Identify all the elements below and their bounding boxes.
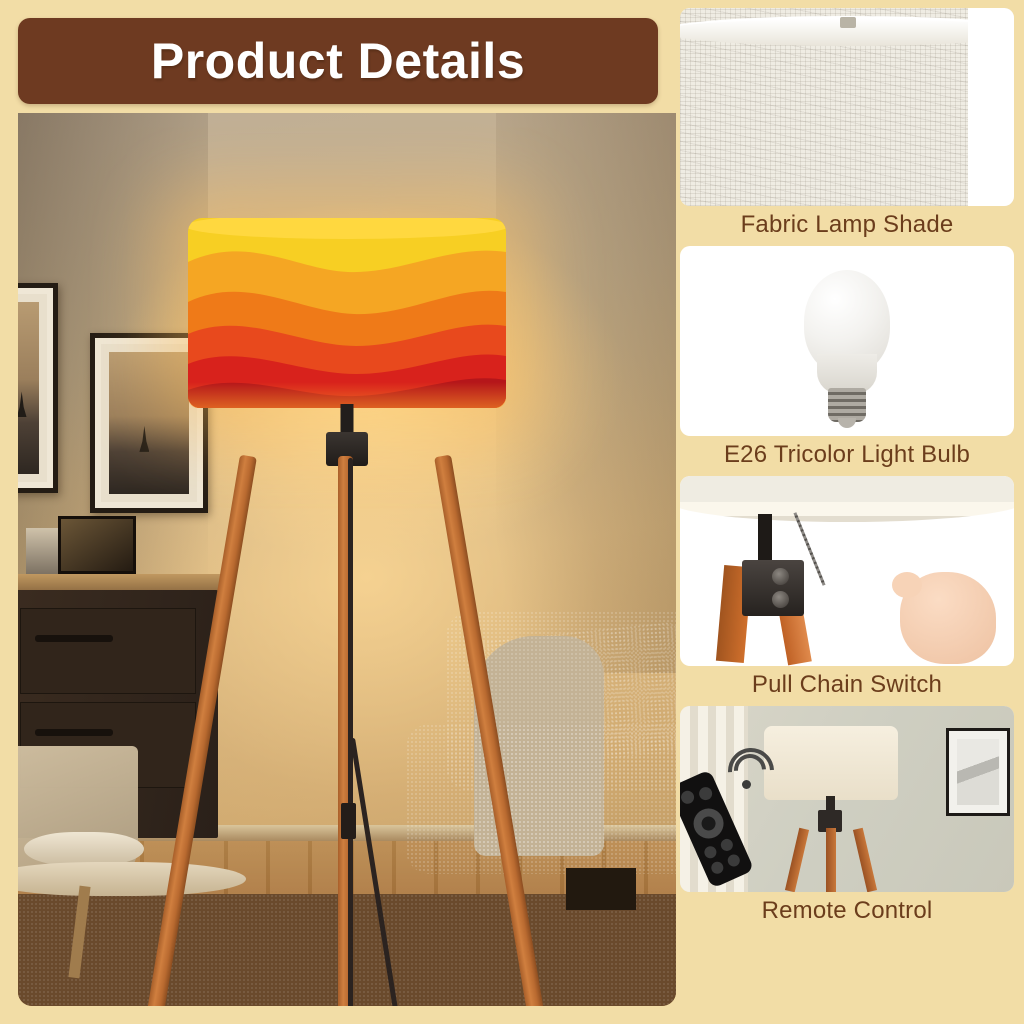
bulb-contact-tip bbox=[838, 418, 856, 428]
detail-card-remote-control[interactable]: Remote Control bbox=[680, 706, 1014, 932]
hero-image-lamp-in-room bbox=[18, 113, 676, 1006]
detail-label-fabric-lamp-shade: Fabric Lamp Shade bbox=[680, 206, 1014, 246]
remote-button bbox=[697, 785, 714, 802]
drawer-handle bbox=[35, 729, 113, 736]
wifi-signal-icon bbox=[742, 780, 751, 789]
thumbnail-side-padding bbox=[968, 8, 1014, 206]
switch-box bbox=[341, 803, 356, 839]
page-title: Product Details bbox=[151, 32, 525, 90]
shade-clip-icon bbox=[840, 17, 856, 28]
detail-card-pull-chain-switch[interactable]: Pull Chain Switch bbox=[680, 476, 1014, 706]
metal-bracket bbox=[742, 560, 804, 616]
shade-bottom-edge bbox=[680, 476, 1014, 522]
product-details-page: Product Details bbox=[0, 0, 1024, 1024]
drawer-handle bbox=[35, 635, 113, 642]
picture-photo bbox=[18, 302, 39, 474]
detail-label-remote-control: Remote Control bbox=[680, 892, 1014, 932]
wall-picture-frame bbox=[946, 728, 1010, 816]
finger bbox=[892, 572, 922, 598]
bulb-screw-base bbox=[828, 388, 866, 422]
decor-book bbox=[26, 528, 58, 574]
pull-chain-thumbnail bbox=[680, 476, 1014, 666]
light-bulb-thumbnail bbox=[680, 246, 1014, 436]
remote-control-thumbnail bbox=[680, 706, 1014, 892]
lamp-shade-waves-graphic bbox=[188, 218, 506, 408]
tripod-leg bbox=[826, 828, 836, 892]
dresser-drawer bbox=[20, 608, 196, 694]
detail-card-fabric-lamp-shade[interactable]: Fabric Lamp Shade bbox=[680, 8, 1014, 246]
wall-picture-frame-left bbox=[18, 283, 58, 493]
hero-column: Product Details bbox=[0, 0, 676, 1024]
screw-icon bbox=[772, 568, 789, 585]
decor-framed-photo bbox=[58, 516, 136, 574]
wavy-lamp-shade bbox=[188, 218, 506, 408]
sofa-foot bbox=[566, 868, 636, 910]
remote-button bbox=[726, 853, 742, 869]
lamp-shade bbox=[764, 726, 898, 800]
detail-card-light-bulb[interactable]: E26 Tricolor Light Bulb bbox=[680, 246, 1014, 476]
wall-shadow-right bbox=[496, 113, 676, 673]
remote-button bbox=[709, 860, 725, 876]
detail-label-pull-chain-switch: Pull Chain Switch bbox=[680, 666, 1014, 706]
fabric-shade-thumbnail bbox=[680, 8, 1014, 206]
table-tray bbox=[24, 832, 144, 866]
power-cord bbox=[348, 458, 353, 1006]
tripod-floor-lamp bbox=[182, 218, 512, 1006]
remote-button bbox=[702, 844, 718, 860]
remote-button bbox=[719, 837, 735, 853]
header-banner: Product Details bbox=[18, 18, 658, 104]
remote-button bbox=[680, 789, 696, 806]
screw-icon bbox=[772, 591, 789, 608]
detail-label-light-bulb: E26 Tricolor Light Bulb bbox=[680, 436, 1014, 476]
detail-list-column: Fabric Lamp Shade E26 Tricolor Light Bul… bbox=[676, 0, 1024, 1024]
picture-photo bbox=[109, 352, 189, 494]
power-cord bbox=[350, 738, 407, 1006]
